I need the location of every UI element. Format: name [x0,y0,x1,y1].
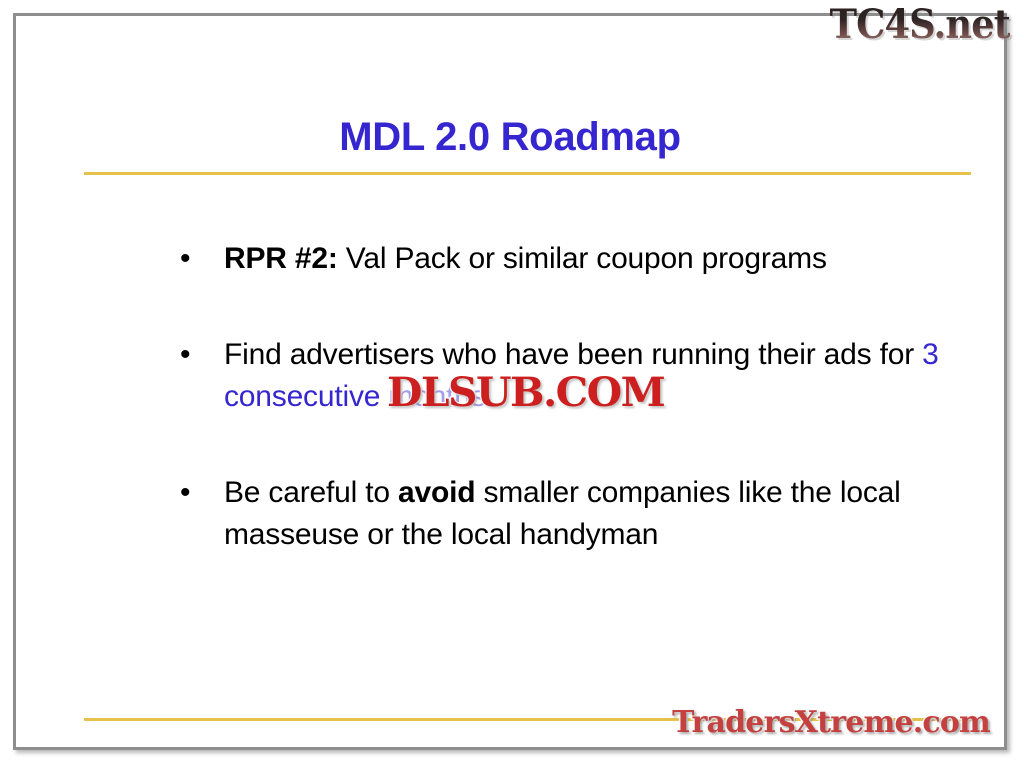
list-item-segment: Val Pack or similar coupon programs [338,242,827,275]
bullet-dot-icon: • [180,472,190,514]
slide-frame: MDL 2.0 Roadmap • RPR #2: Val Pack or si… [13,13,1007,750]
page-title: MDL 2.0 Roadmap [16,117,1004,157]
list-item: • Be careful to avoid smaller companies … [176,472,956,556]
list-item-text: Be careful to avoid smaller companies li… [224,476,901,551]
bullet-list: • RPR #2: Val Pack or similar coupon pro… [176,238,956,556]
list-item-segment: Find advertisers who have been running t… [224,338,922,371]
list-item-segment: Be careful to [224,476,398,509]
list-item-segment: avoid [398,476,475,509]
watermark-tradersxtreme: TradersXtreme.com [672,704,990,742]
divider-bottom [84,718,971,721]
list-item-text: RPR #2: Val Pack or similar coupon progr… [224,242,827,275]
list-item-text: Find advertisers who have been running t… [224,338,939,413]
divider-top [84,172,971,175]
list-item-segment: RPR #2: [224,242,338,275]
bullet-dot-icon: • [180,334,190,376]
list-item: • RPR #2: Val Pack or similar coupon pro… [176,238,956,280]
bullet-dot-icon: • [180,238,190,280]
list-item: • Find advertisers who have been running… [176,334,956,418]
